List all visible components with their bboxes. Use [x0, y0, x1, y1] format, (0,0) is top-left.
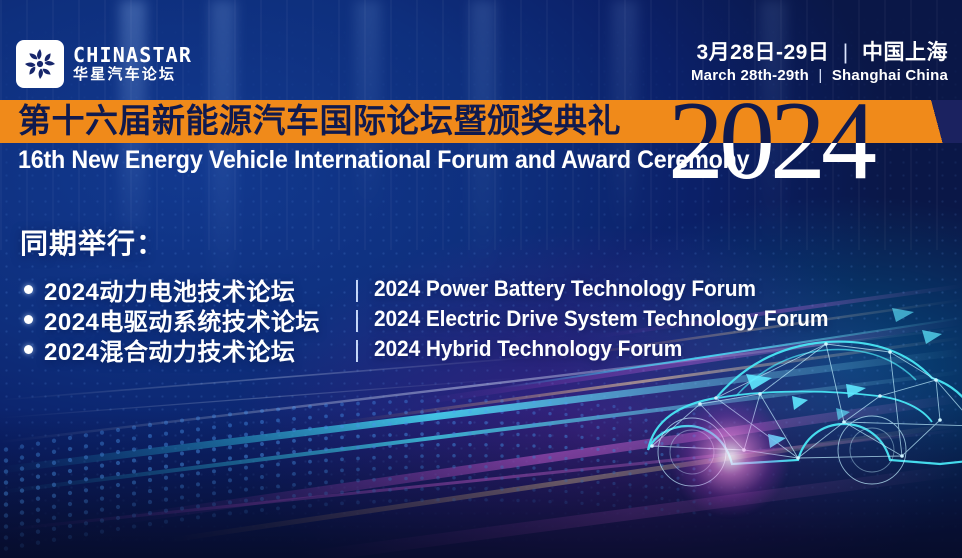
agenda-heading: 同期举行：: [20, 222, 852, 262]
bullet-icon: [24, 345, 33, 354]
event-date-cn: 3月28日-29日: [696, 41, 829, 64]
item-separator: |: [340, 276, 374, 303]
bullet-icon: [24, 285, 33, 294]
brand-name-en: CHINASTAR: [73, 45, 192, 66]
item-separator: |: [340, 336, 374, 363]
event-date-en: March 28th-29th: [691, 67, 809, 84]
forum-name-en: 2024 Hybrid Technology Forum: [374, 336, 682, 362]
list-item[interactable]: 2024混合动力技术论坛 | 2024 Hybrid Technology Fo…: [20, 334, 852, 364]
event-location-en: Shanghai China: [832, 67, 948, 84]
event-meta-cn: 3月28日-29日 | 中国上海: [691, 40, 948, 66]
bullet-icon: [24, 315, 33, 324]
page-title-en: 16th New Energy Vehicle International Fo…: [18, 144, 749, 178]
event-meta: 3月28日-29日 | 中国上海 March 28th-29th | Shang…: [691, 40, 948, 86]
item-separator: |: [340, 306, 374, 333]
event-meta-en: March 28th-29th | Shanghai China: [691, 66, 948, 86]
meta-separator: |: [813, 67, 827, 84]
forum-name-en: 2024 Power Battery Technology Forum: [374, 276, 756, 302]
list-item[interactable]: 2024动力电池技术论坛 | 2024 Power Battery Techno…: [20, 274, 852, 304]
event-banner: CHINASTAR 华星汽车论坛 3月28日-29日 | 中国上海 March …: [0, 0, 962, 558]
forum-name-cn: 2024混合动力技术论坛: [44, 332, 340, 367]
brand-logo[interactable]: CHINASTAR 华星汽车论坛: [16, 40, 192, 88]
chinastar-flower-logo-icon: [16, 40, 64, 88]
page-title-cn: 第十六届新能源汽车国际论坛暨颁奖典礼: [18, 100, 621, 143]
agenda-block: 同期举行： 2024动力电池技术论坛 | 2024 Power Battery …: [20, 222, 852, 364]
meta-separator: |: [836, 41, 856, 64]
headlight-glow-decoration: [670, 396, 790, 516]
event-location-cn: 中国上海: [862, 41, 948, 64]
forum-name-en: 2024 Electric Drive System Technology Fo…: [374, 306, 828, 332]
list-item[interactable]: 2024电驱动系统技术论坛 | 2024 Electric Drive Syst…: [20, 304, 852, 334]
brand-name-cn: 华星汽车论坛: [73, 66, 192, 83]
